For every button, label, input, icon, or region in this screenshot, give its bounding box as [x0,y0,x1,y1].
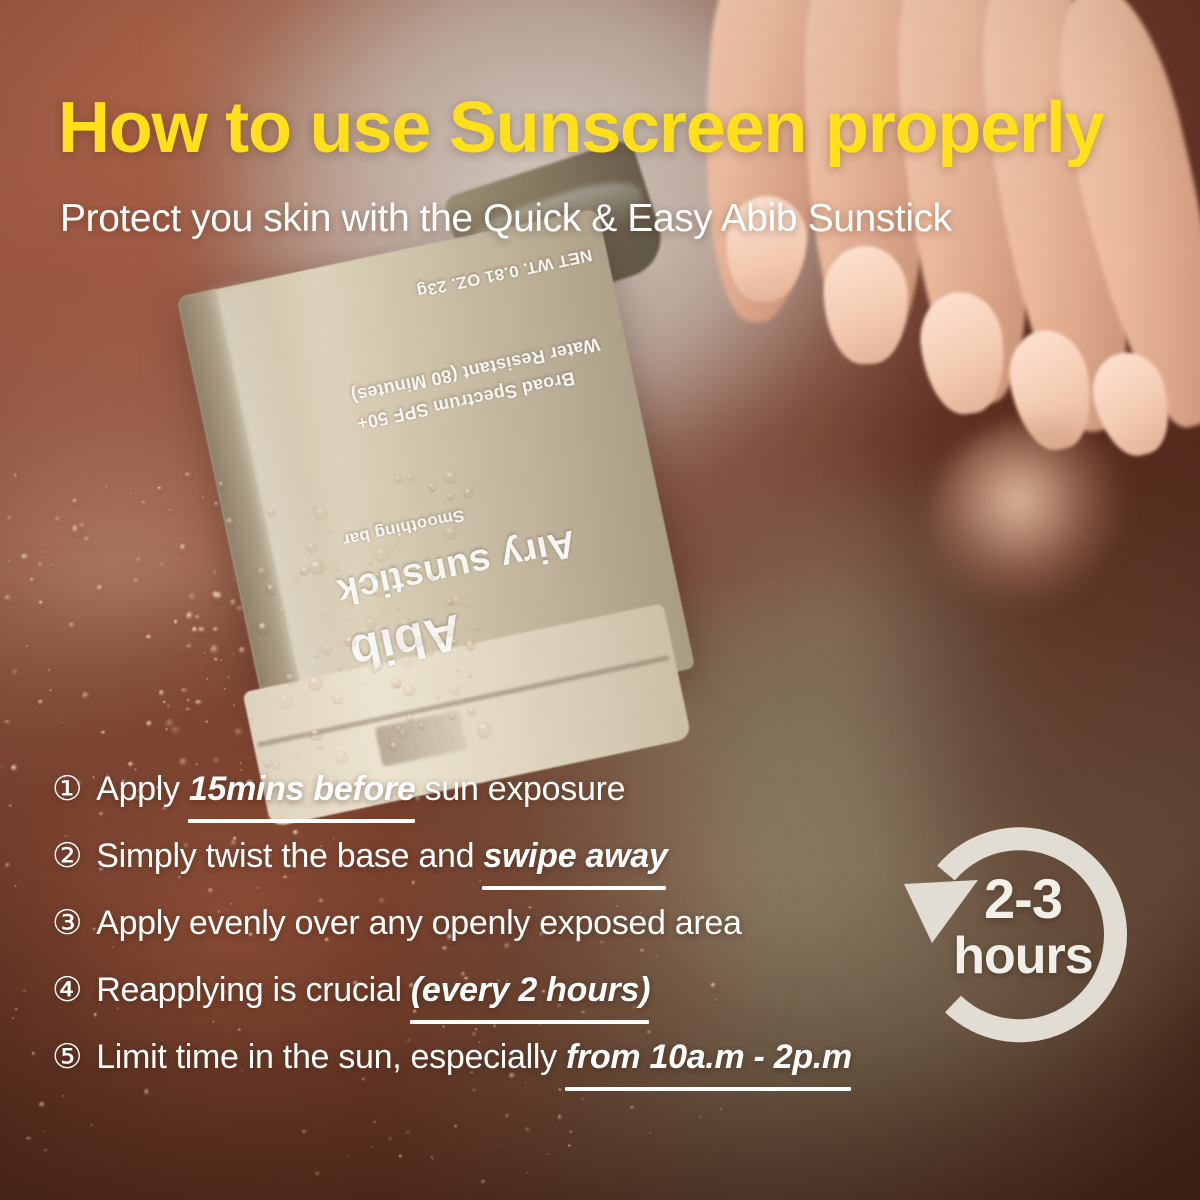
step-text-before: Simply twist the base and [96,837,483,875]
step-text-before: Apply evenly over any openly exposed are… [96,904,741,942]
step-text-before: Reapplying is crucial [96,971,411,1009]
instruction-step: ②Simply twist the base and swipe away [52,837,952,904]
step-emphasis: (every 2 hours) [411,971,650,1011]
step-text: Reapplying is crucial (every 2 hours) [96,971,650,1010]
page-title: How to use Sunscreen properly [58,92,1103,165]
circular-arrow-refresh-icon [892,796,1154,1058]
poster-content: How to use Sunscreen properly Protect yo… [0,0,1200,1200]
step-number: ④ [52,973,82,1007]
step-number: ③ [52,906,82,940]
page-subtitle: Protect you skin with the Quick & Easy A… [60,196,952,243]
step-text: Apply evenly over any openly exposed are… [96,904,741,943]
step-text: Limit time in the sun, especially from 1… [96,1038,852,1077]
step-number: ⑤ [52,1040,82,1074]
step-emphasis: 15mins before [189,770,416,810]
step-text-before: Apply [96,770,189,808]
step-text-after: sun exposure [416,770,626,808]
step-number: ② [52,839,82,873]
instruction-step: ①Apply 15mins before sun exposure [52,770,952,837]
instruction-step: ③Apply evenly over any openly exposed ar… [52,904,952,971]
step-text-before: Limit time in the sun, especially [96,1038,566,1076]
step-text: Simply twist the base and swipe away [96,837,667,876]
step-emphasis: from 10a.m - 2p.m [566,1038,852,1078]
instruction-step: ④Reapplying is crucial (every 2 hours) [52,971,952,1038]
instruction-step: ⑤Limit time in the sun, especially from … [52,1038,952,1105]
step-emphasis: swipe away [483,837,667,877]
reapply-interval-badge: 2-3 hours [892,796,1154,1058]
step-text: Apply 15mins before sun exposure [96,770,625,809]
instruction-steps-list: ①Apply 15mins before sun exposure②Simply… [52,770,952,1105]
sunscreen-instruction-poster: Abib Airy sunstick Smoothing bar Broad S… [0,0,1200,1200]
step-number: ① [52,772,82,806]
